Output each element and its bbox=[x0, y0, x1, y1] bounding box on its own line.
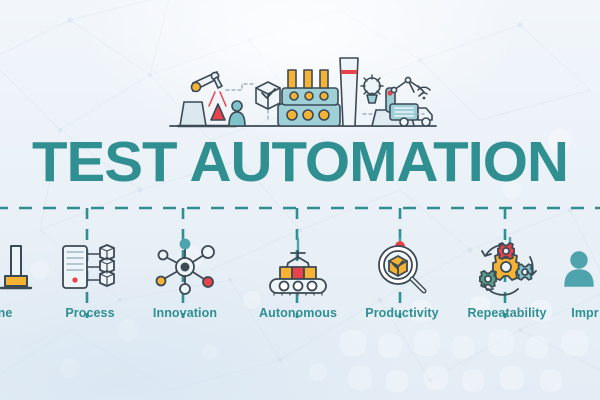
person-icon bbox=[525, 236, 600, 298]
steps-row: ne bbox=[0, 236, 600, 346]
step-innovation[interactable]: Innovation bbox=[125, 236, 245, 320]
step-label-innovation: Innovation bbox=[125, 306, 245, 320]
infographic-banner: TEST AUTOMATION ne bbox=[0, 0, 600, 400]
step-autonomous[interactable]: Autonomous bbox=[238, 236, 358, 320]
smokestack bbox=[340, 58, 358, 126]
checked-box bbox=[256, 82, 280, 109]
network-nodes-icon bbox=[125, 236, 245, 298]
magnifier-box-icon bbox=[342, 236, 462, 298]
conveyor-belt bbox=[278, 70, 340, 126]
step-improvement[interactable]: Impr bbox=[525, 236, 600, 320]
step-label-autonomous: Autonomous bbox=[238, 306, 358, 320]
page-title: TEST AUTOMATION bbox=[0, 132, 600, 192]
step-productivity[interactable]: Productivity bbox=[342, 236, 462, 320]
robot-arm bbox=[192, 72, 223, 92]
worker bbox=[229, 101, 245, 126]
gear-lamp bbox=[361, 75, 383, 103]
wifi-signal bbox=[418, 87, 430, 99]
step-label-productivity: Productivity bbox=[342, 306, 462, 320]
step-label-improvement: Impr bbox=[525, 306, 600, 320]
conveyor-claw-icon bbox=[238, 236, 358, 298]
